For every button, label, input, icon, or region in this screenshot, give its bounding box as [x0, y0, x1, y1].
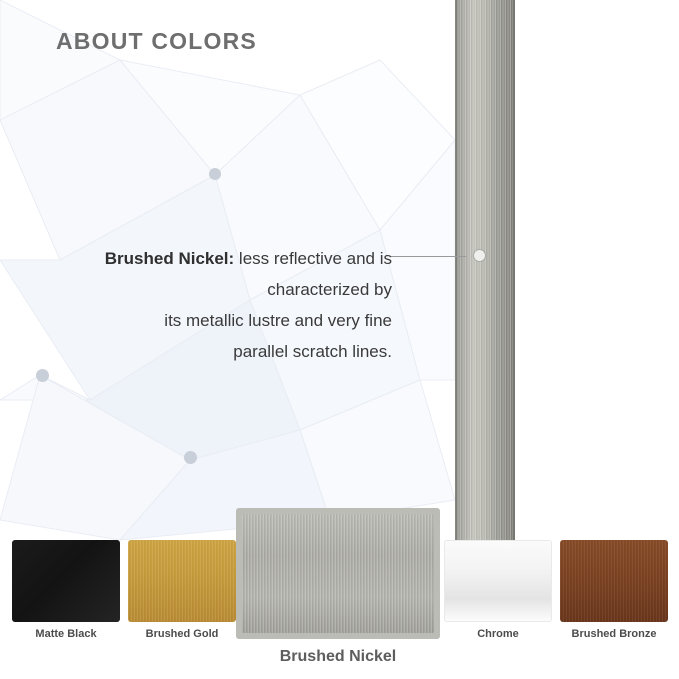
swatch-chip-brushed-bronze — [560, 540, 668, 622]
decorative-dot — [209, 168, 221, 180]
background-fill-right — [515, 0, 679, 540]
swatch-chip-matte-black — [12, 540, 120, 622]
callout-description: Brushed Nickel: less reflective and is c… — [40, 243, 392, 367]
swatch-chrome[interactable]: Chrome — [444, 540, 552, 622]
swatch-brushed-nickel-selected[interactable] — [236, 508, 440, 639]
swatch-label-brushed-gold: Brushed Gold — [128, 628, 236, 640]
swatch-bar: Matte Black Brushed Gold Chrome Brushed … — [0, 534, 679, 679]
swatch-brushed-bronze[interactable]: Brushed Bronze — [560, 540, 668, 622]
swatch-chip-chrome — [444, 540, 552, 622]
callout-line-3: parallel scratch lines. — [233, 342, 392, 361]
callout-lead-label: Brushed Nickel: — [105, 249, 234, 268]
strip-edge-left — [455, 0, 457, 540]
swatch-label-brushed-bronze: Brushed Bronze — [560, 628, 668, 640]
swatch-matte-black[interactable]: Matte Black — [12, 540, 120, 622]
brushed-nickel-strip — [455, 0, 515, 540]
strip-edge-right — [513, 0, 515, 540]
swatch-label-brushed-nickel: Brushed Nickel — [236, 648, 440, 666]
page-title: ABOUT COLORS — [56, 28, 257, 55]
swatch-chip-brushed-nickel — [242, 514, 434, 633]
swatch-brushed-gold[interactable]: Brushed Gold — [128, 540, 236, 622]
decorative-dot — [36, 369, 49, 382]
decorative-dot — [184, 451, 197, 464]
callout-target-dot — [474, 250, 485, 261]
callout-line-2: its metallic lustre and very fine — [164, 311, 392, 330]
swatch-chip-brushed-gold — [128, 540, 236, 622]
about-colors-graphic: ABOUT COLORS Brushed Nickel: less reflec… — [0, 0, 679, 679]
swatch-label-chrome: Chrome — [444, 628, 552, 640]
callout-line-1: less reflective and is characterized by — [234, 249, 392, 299]
swatch-label-matte-black: Matte Black — [12, 628, 120, 640]
callout-leader-line — [390, 256, 466, 257]
